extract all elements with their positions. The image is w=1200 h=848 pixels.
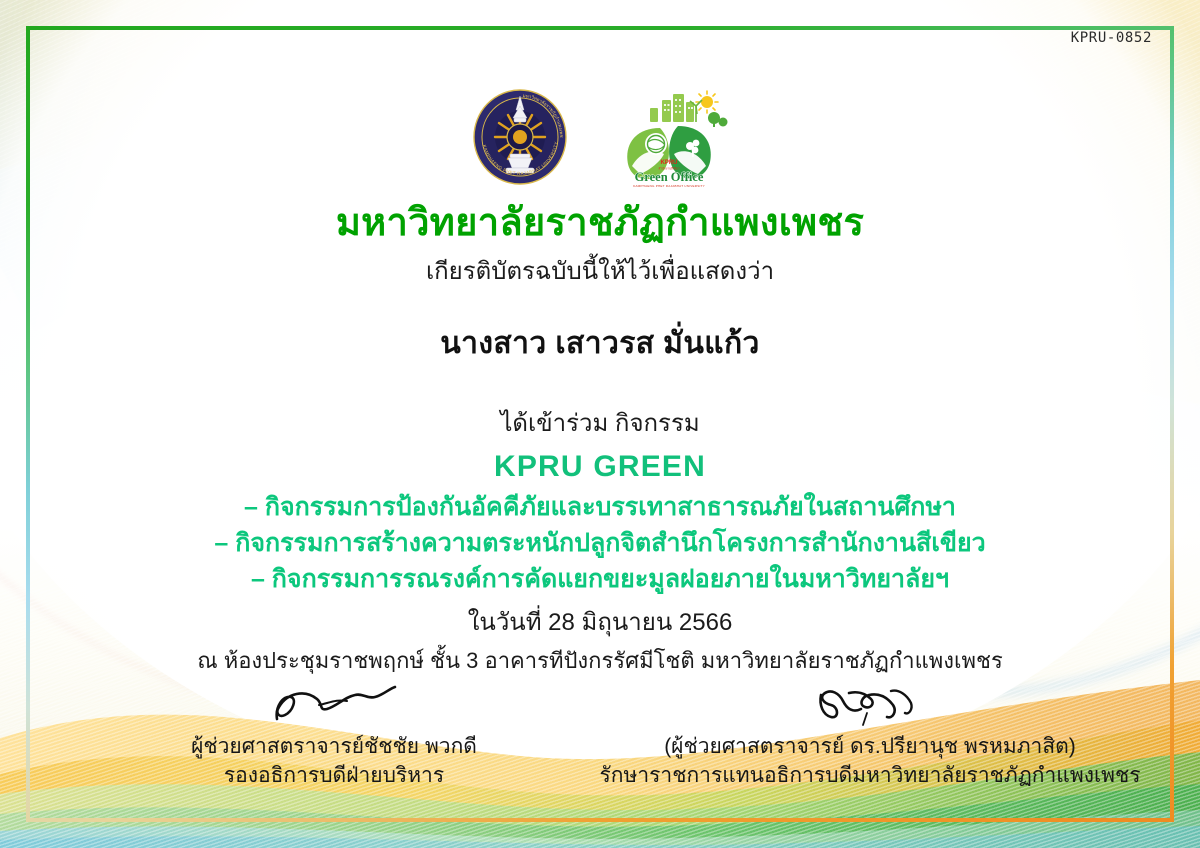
activity-item: – กิจกรรมการป้องกันอัคคีภัยและบรรเทาสาธา…	[244, 490, 956, 524]
signature-block-left: ผู้ช่วยศาสตราจารย์ชัชชัย พวกดี รองอธิการ…	[74, 679, 594, 790]
green-office-wordmark: Green Office KAMPHAENG PHET RAJABHAT UNI…	[633, 170, 705, 188]
signature-block-right: (ผู้ช่วยศาสตราจารย์ ดร.ปรียานุช พรหมภาสิ…	[610, 679, 1130, 790]
certificate-subtitle: เกียรติบัตรฉบับนี้ให้ไว้เพื่อแสดงว่า	[426, 258, 774, 287]
page-title: มหาวิทยาลัยราชภัฏกำแพงเพชร	[336, 202, 864, 246]
handwritten-signature-icon	[259, 679, 409, 733]
signature-row: ผู้ช่วยศาสตราจารย์ชัชชัย พวกดี รองอธิการ…	[60, 679, 1140, 790]
signature-name-right: (ผู้ช่วยศาสตราจารย์ ดร.ปรียานุช พรหมภาสิ…	[664, 733, 1076, 761]
activity-item: – กิจกรรมการรณรงค์การคัดแยกขยะมูลฝอยภายใ…	[251, 562, 949, 596]
recipient-name: นางสาว เสาวรส มั่นแก้ว	[440, 320, 760, 367]
activity-list: – กิจกรรมการป้องกันอัคคีภัยและบรรเทาสาธา…	[214, 490, 985, 596]
participation-text: ได้เข้าร่วม กิจกรรม	[500, 403, 699, 442]
logo-row: มหาวิทยาลัยราชภัฏกำแพงเพชร KAMPHAENG PHE…	[472, 88, 728, 188]
certificate-id: KPRU-0852	[1071, 30, 1152, 46]
green-office-logo-icon: KPRU สำนักงานสีเขียว Green Office KAMPHA…	[610, 88, 728, 188]
svg-text:KAMPHAENG PHET RAJABHAT UNIVER: KAMPHAENG PHET RAJABHAT UNIVERSITY	[633, 184, 705, 188]
green-office-kpru-badge: KPRU	[660, 160, 677, 166]
handwritten-signature-icon	[805, 679, 935, 733]
activity-item: – กิจกรรมการสร้างความตระหนักปลูกจิตสำนึก…	[214, 526, 985, 560]
signature-mark-right	[805, 679, 935, 733]
event-venue: ณ ห้องประชุมราชพฤกษ์ ชั้น 3 อาคารทีปังกร…	[197, 643, 1003, 678]
signature-role-left: รองอธิการบดีฝ่ายบริหาร	[224, 762, 444, 790]
signature-name-left: ผู้ช่วยศาสตราจารย์ชัชชัย พวกดี	[191, 733, 477, 761]
event-date: ในวันที่ 28 มิถุนายน 2566	[468, 602, 733, 641]
svg-text:Green Office: Green Office	[635, 170, 704, 184]
certificate-content: KPRU-0852	[0, 0, 1200, 848]
kpru-university-seal-icon: มหาวิทยาลัยราชภัฏกำแพงเพชร KAMPHAENG PHE…	[472, 88, 568, 186]
program-name: KPRU GREEN	[494, 450, 706, 484]
signature-role-right: รักษาราชการแทนอธิการบดีมหาวิทยาลัยราชภัฏ…	[600, 762, 1141, 790]
certificate: KPRU-0852	[0, 0, 1200, 848]
signature-mark-left	[259, 679, 409, 733]
